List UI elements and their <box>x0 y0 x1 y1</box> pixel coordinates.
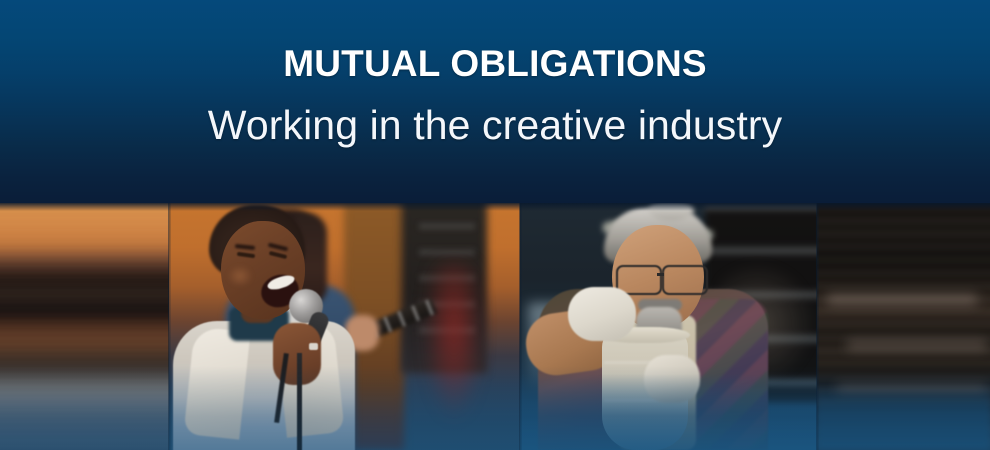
red-light-blur <box>424 263 484 423</box>
page-title: MUTUAL OBLIGATIONS <box>283 45 707 82</box>
singer-cheek-highlight <box>227 265 253 287</box>
singer-ring <box>309 343 318 350</box>
potter-glove-upper <box>568 287 636 341</box>
singer-jacket-lapel-left <box>184 326 251 439</box>
potter-glasses-bridge <box>657 273 664 276</box>
panel-seam-left <box>168 203 171 450</box>
panel-seam-right <box>816 203 819 450</box>
header-band: MUTUAL OBLIGATIONS Working in the creati… <box>0 0 990 203</box>
potter-glasses-right-lens <box>662 265 708 295</box>
panel-seam-center <box>519 203 522 450</box>
photo-collage <box>0 203 990 450</box>
blue-floor-wash <box>817 386 990 450</box>
mutual-obligations-banner: MUTUAL OBLIGATIONS Working in the creati… <box>0 0 990 450</box>
panel-blurred-studio-background <box>0 203 169 450</box>
panel-singer-with-microphone <box>169 203 520 450</box>
motion-blur-streaks <box>0 203 169 450</box>
panel-blurred-workshop-shelves <box>817 203 990 450</box>
microphone-stand <box>297 353 302 450</box>
panel-potter-at-wheel <box>520 203 817 450</box>
pottery-wheel-blue-glow <box>520 374 817 450</box>
page-subtitle: Working in the creative industry <box>208 105 782 146</box>
